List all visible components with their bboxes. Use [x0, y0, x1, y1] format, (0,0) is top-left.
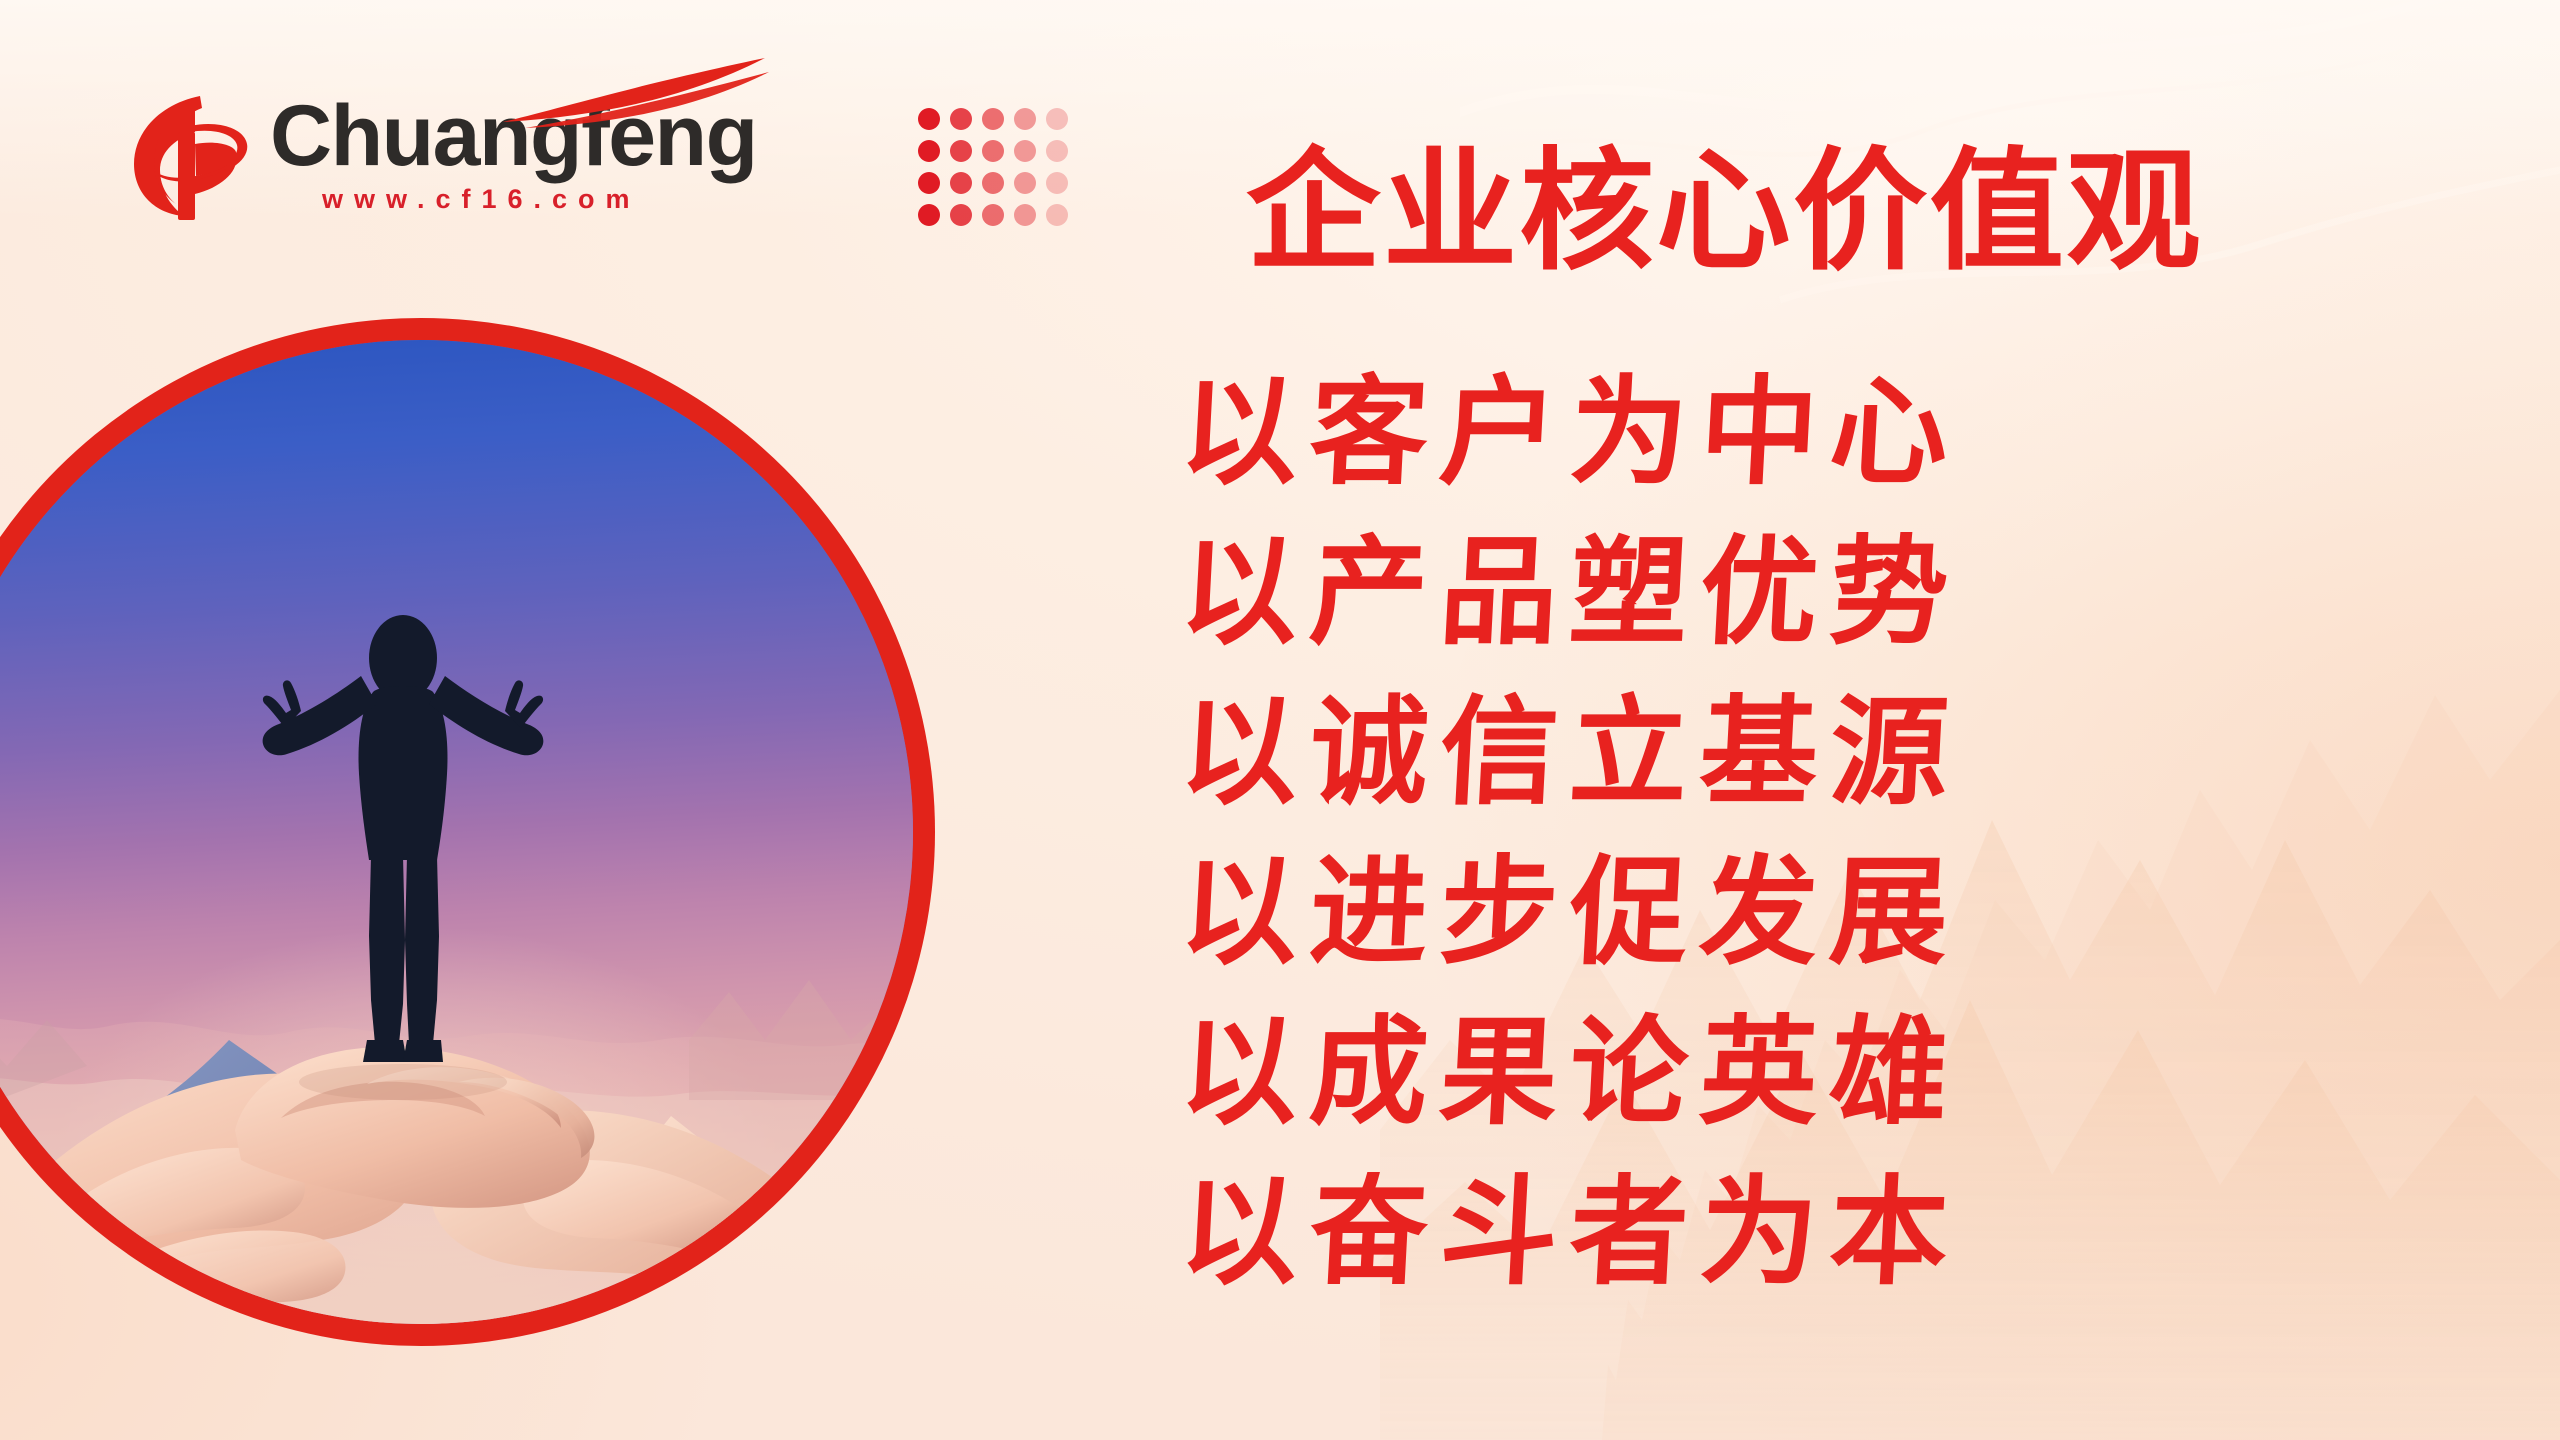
value-line: 以成果论英雄: [1176, 992, 2324, 1152]
core-values-list: 以客户为中心 以产品塑优势 以诚信立基源 以进步促发展 以成果论英雄 以奋斗者为…: [1180, 352, 2320, 1312]
value-line: 以奋斗者为本: [1176, 1152, 2324, 1312]
value-line: 以客户为中心: [1176, 352, 2324, 512]
value-line: 以产品塑优势: [1176, 512, 2324, 672]
value-line: 以进步促发展: [1176, 832, 2324, 992]
value-line: 以诚信立基源: [1176, 672, 2324, 832]
chuangfeng-logo-icon: [132, 88, 252, 226]
hero-photo: [0, 340, 913, 1324]
logo-wordmark: Chuangfeng: [270, 94, 757, 178]
poster-header: Chuangfeng www.cf16.com 企业核心价值观: [0, 0, 2560, 270]
hero-photo-ring: [0, 318, 935, 1346]
poster-canvas: Chuangfeng www.cf16.com 企业核心价值观: [0, 0, 2560, 1440]
logo-website-url[interactable]: www.cf16.com: [270, 184, 757, 215]
photo-artwork: [0, 340, 913, 1324]
dot-matrix-decoration: [918, 108, 1072, 230]
page-title: 企业核心价值观: [1246, 146, 2203, 278]
brand-logo[interactable]: Chuangfeng www.cf16.com: [132, 82, 757, 226]
